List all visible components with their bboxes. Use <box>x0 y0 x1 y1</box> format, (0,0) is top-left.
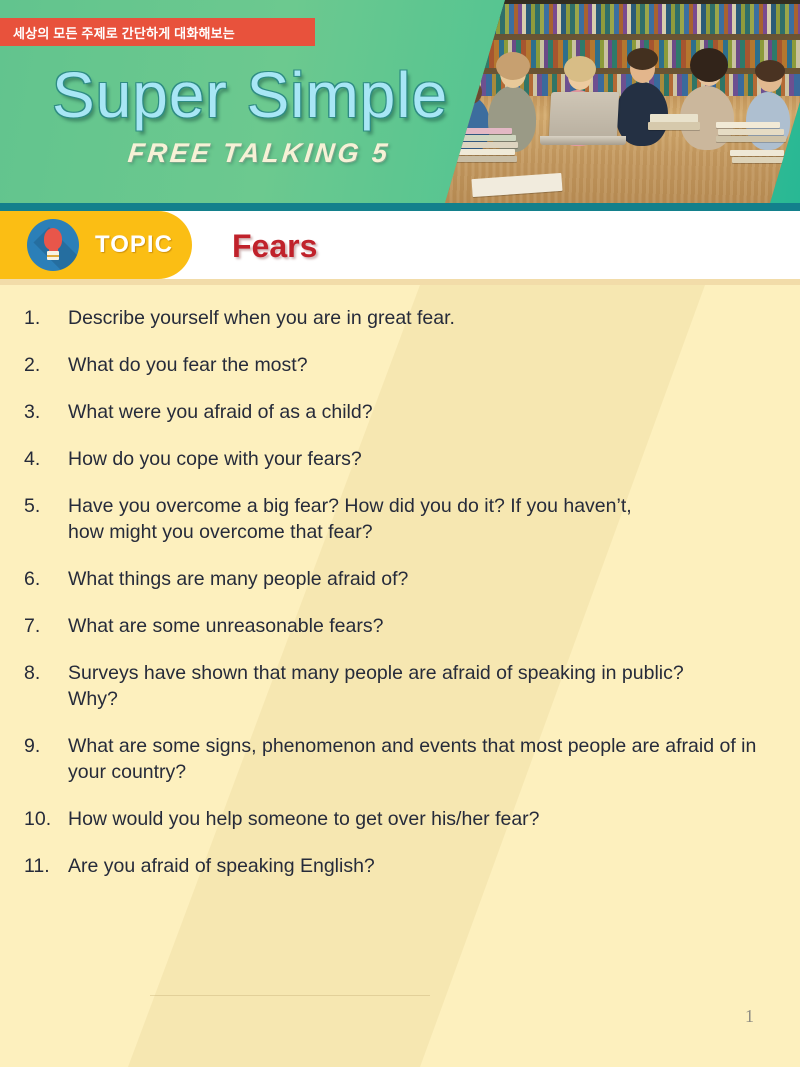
question-text: What were you afraid of as a child? <box>68 399 373 425</box>
list-item: 2. What do you fear the most? <box>24 352 762 378</box>
question-number: 11. <box>24 853 68 879</box>
question-text: What things are many people afraid of? <box>68 566 408 592</box>
question-text: Have you overcome a big fear? How did yo… <box>68 493 668 545</box>
question-text: What are some unreasonable fears? <box>68 613 383 639</box>
question-text: Describe yourself when you are in great … <box>68 305 455 331</box>
question-text: What are some signs, phenomenon and even… <box>68 733 758 785</box>
list-item: 5. Have you overcome a big fear? How did… <box>24 493 762 545</box>
list-item: 6. What things are many people afraid of… <box>24 566 762 592</box>
library-students-photo <box>430 0 800 203</box>
list-item: 10. How would you help someone to get ov… <box>24 806 762 832</box>
questions-section: 1. Describe yourself when you are in gre… <box>0 285 800 1067</box>
list-item: 8. Surveys have shown that many people a… <box>24 660 762 712</box>
list-item: 3. What were you afraid of as a child? <box>24 399 762 425</box>
question-number: 2. <box>24 352 68 378</box>
footer-divider <box>150 995 430 996</box>
list-item: 9. What are some signs, phenomenon and e… <box>24 733 762 785</box>
page-number: 1 <box>745 1006 754 1027</box>
question-text: How would you help someone to get over h… <box>68 806 540 832</box>
question-text: What do you fear the most? <box>68 352 308 378</box>
korean-tagline-ribbon: 세상의 모든 주제로 간단하게 대화해보는 <box>0 18 315 46</box>
question-number: 7. <box>24 613 68 639</box>
question-number: 6. <box>24 566 68 592</box>
page-header: 세상의 모든 주제로 간단하게 대화해보는 Super Simple FREE … <box>0 0 800 211</box>
brand-subtitle: FREE TALKING 5 <box>126 138 391 169</box>
question-text: Are you afraid of speaking English? <box>68 853 375 879</box>
question-number: 10. <box>24 806 68 832</box>
question-number: 9. <box>24 733 68 759</box>
brand-title: Super Simple <box>52 58 448 132</box>
lightbulb-icon <box>27 219 79 271</box>
worksheet-page: 세상의 모든 주제로 간단하게 대화해보는 Super Simple FREE … <box>0 0 800 1067</box>
list-item: 11. Are you afraid of speaking English? <box>24 853 762 879</box>
question-number: 8. <box>24 660 68 686</box>
question-text: How do you cope with your fears? <box>68 446 362 472</box>
topic-title: Fears <box>232 228 317 265</box>
question-list: 1. Describe yourself when you are in gre… <box>0 285 800 900</box>
question-text: Surveys have shown that many people are … <box>68 660 728 712</box>
header-teal-divider <box>0 203 800 211</box>
question-number: 1. <box>24 305 68 331</box>
question-number: 4. <box>24 446 68 472</box>
question-number: 5. <box>24 493 68 519</box>
topic-bar: TOPIC Fears <box>0 211 800 279</box>
list-item: 4. How do you cope with your fears? <box>24 446 762 472</box>
question-number: 3. <box>24 399 68 425</box>
list-item: 7. What are some unreasonable fears? <box>24 613 762 639</box>
topic-label: TOPIC <box>95 231 173 259</box>
korean-tagline-text: 세상의 모든 주제로 간단하게 대화해보는 <box>13 23 235 42</box>
list-item: 1. Describe yourself when you are in gre… <box>24 305 762 331</box>
topic-pill: TOPIC <box>0 211 192 279</box>
